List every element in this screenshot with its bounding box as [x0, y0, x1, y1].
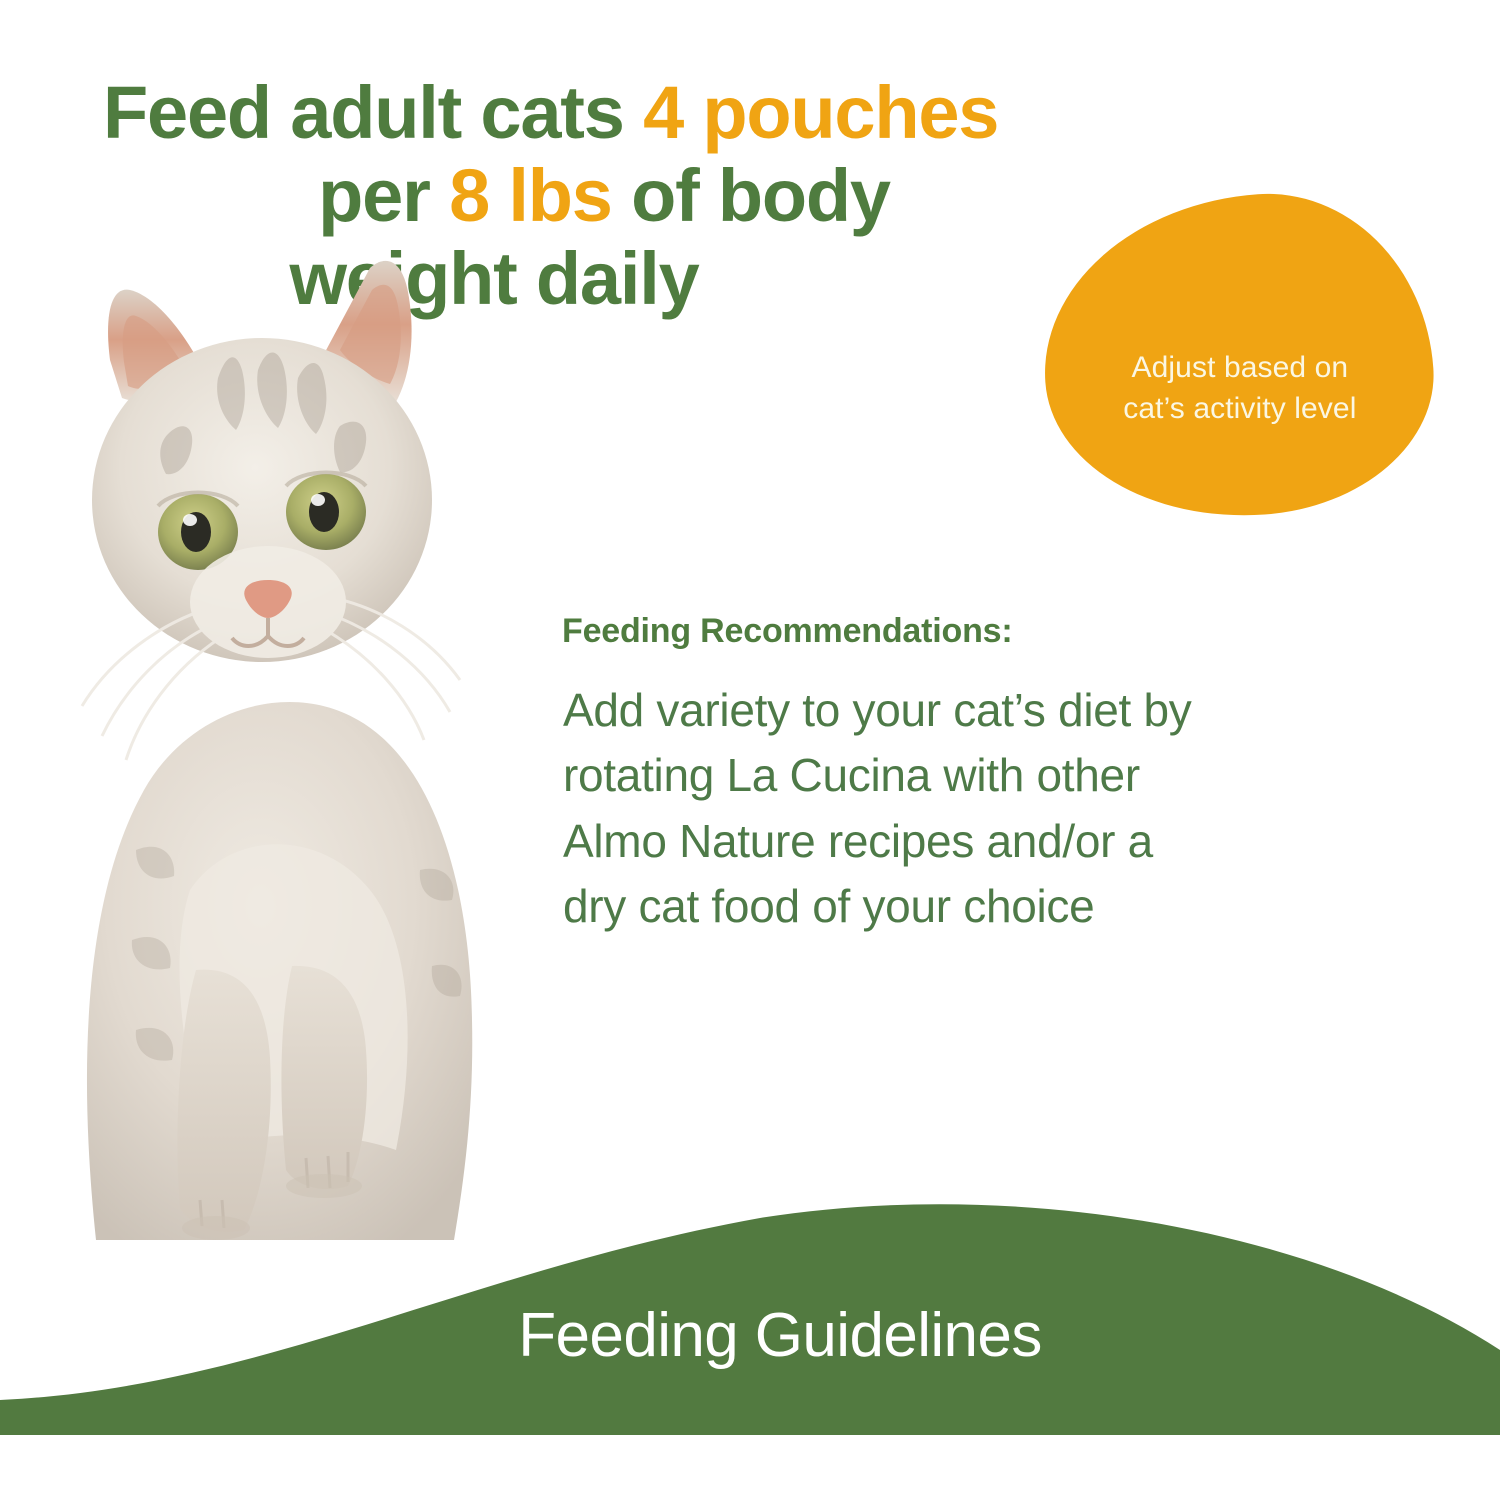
headline-line-2: per 8 lbs of body [95, 155, 1225, 238]
cat-illustration-icon [40, 250, 510, 1240]
feeding-recommendations-body: Add variety to your cat’s diet by rotati… [563, 678, 1423, 939]
headline-accent-pouches: 4 pouches [643, 71, 998, 154]
bottom-banner: Feeding Guidelines [0, 1200, 1500, 1500]
headline-line-1: Feed adult cats 4 pouches [95, 72, 1225, 155]
feeding-guidelines-infographic: Feed adult cats 4 pouches per 8 lbs of b… [0, 0, 1500, 1500]
headline-line-2-tail: of body [612, 154, 890, 237]
callout-line-2: cat’s activity level [1124, 388, 1357, 429]
rec-line-1: Add variety to your cat’s diet by [563, 678, 1423, 743]
rec-line-4: dry cat food of your choice [563, 874, 1423, 939]
headline-line-2-lead: per [318, 154, 449, 237]
callout-line-1: Adjust based on [1124, 347, 1357, 388]
feeding-recommendations-label: Feeding Recommendations: [562, 612, 1012, 651]
callout-text: Adjust based on cat’s activity level [1124, 347, 1357, 430]
banner-title: Feeding Guidelines [0, 1300, 1500, 1371]
rec-line-2: rotating La Cucina with other [563, 743, 1423, 808]
headline-accent-weight: 8 lbs [449, 154, 612, 237]
headline-line-1-lead: Feed adult cats [103, 71, 643, 154]
rec-line-3: Almo Nature recipes and/or a [563, 809, 1423, 874]
cat-photo [40, 250, 510, 1240]
